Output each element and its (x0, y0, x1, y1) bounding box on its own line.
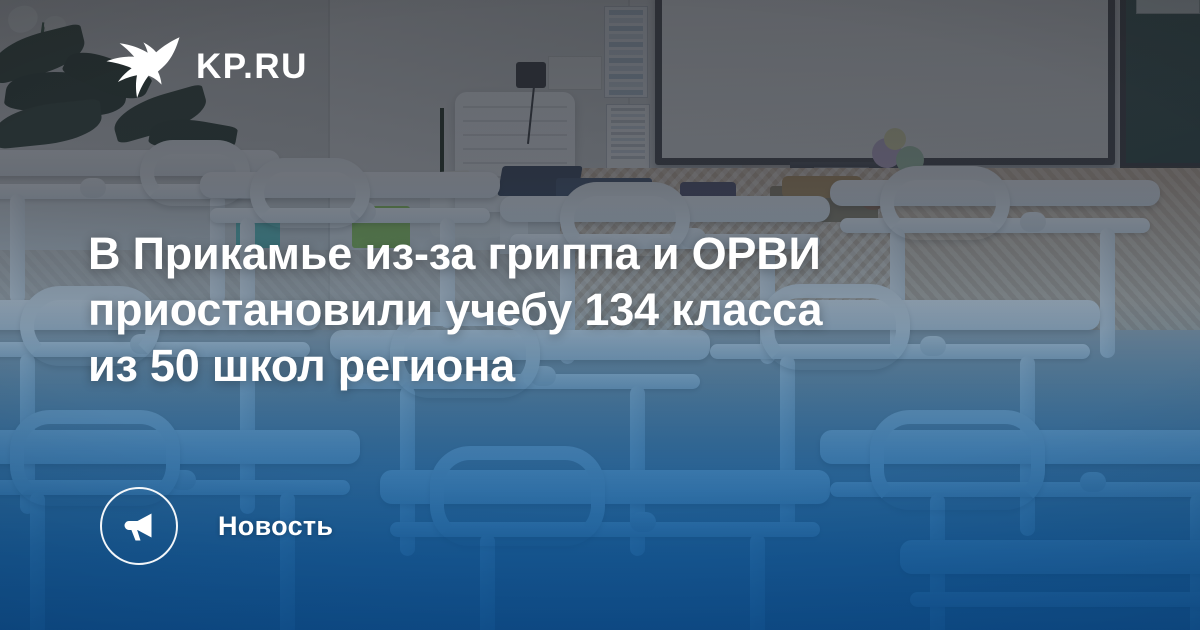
swallow-bird-icon (106, 36, 180, 98)
headline-line-1: В Прикамье из-за гриппа и ОРВИ (88, 226, 1088, 282)
badge-label: Новость (218, 511, 333, 542)
megaphone-icon (100, 487, 178, 565)
headline-line-2: приостановили учебу 134 класса (88, 282, 1088, 338)
brand-logo[interactable]: KP.RU (106, 36, 308, 98)
news-social-card: KP.RU В Прикамье из-за гриппа и ОРВИ при… (0, 0, 1200, 630)
brand-name: KP.RU (196, 47, 308, 87)
page-title: В Прикамье из-за гриппа и ОРВИ приостано… (88, 226, 1088, 394)
card-content: KP.RU В Прикамье из-за гриппа и ОРВИ при… (0, 0, 1200, 630)
headline-line-3: из 50 школ региона (88, 338, 1088, 394)
status-badge[interactable]: Новость (100, 487, 333, 565)
